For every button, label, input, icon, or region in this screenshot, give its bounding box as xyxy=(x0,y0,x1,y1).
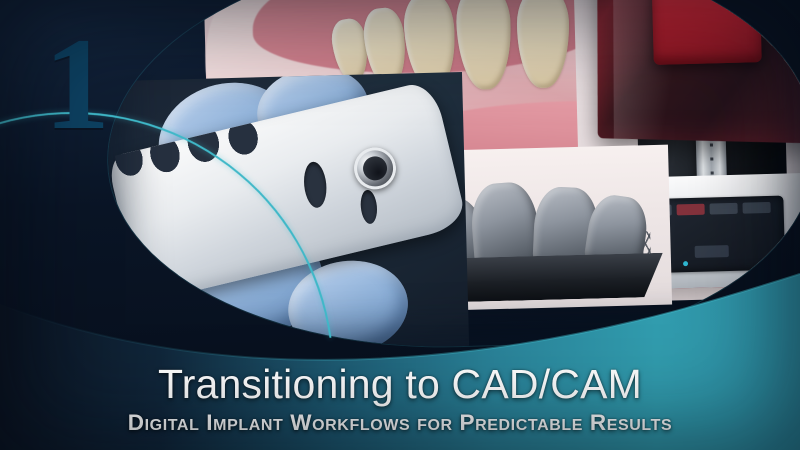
guide-inspection-window xyxy=(302,161,328,209)
page-title: Transitioning to CAD/CAM xyxy=(0,363,800,406)
page-subtitle: Digital Implant Workflows for Predictabl… xyxy=(0,411,800,436)
screen-tab-active[interactable] xyxy=(676,204,704,216)
tooth xyxy=(455,0,513,90)
screen-action-button[interactable] xyxy=(695,245,729,258)
title-block: Transitioning to CAD/CAM Digital Implant… xyxy=(0,363,800,436)
screen-tab[interactable] xyxy=(742,202,770,214)
screen-tab[interactable] xyxy=(709,203,737,215)
slide-number: 1 xyxy=(44,18,108,150)
slide-canvas: 1 Transitioning to CAD/CAM Digital Impla… xyxy=(0,0,800,450)
resin-vat xyxy=(652,0,762,65)
guide-inspection-window xyxy=(359,189,378,224)
guide-drill-sleeve xyxy=(350,143,401,194)
screen-status-dot xyxy=(683,261,688,266)
tooth xyxy=(517,0,570,88)
